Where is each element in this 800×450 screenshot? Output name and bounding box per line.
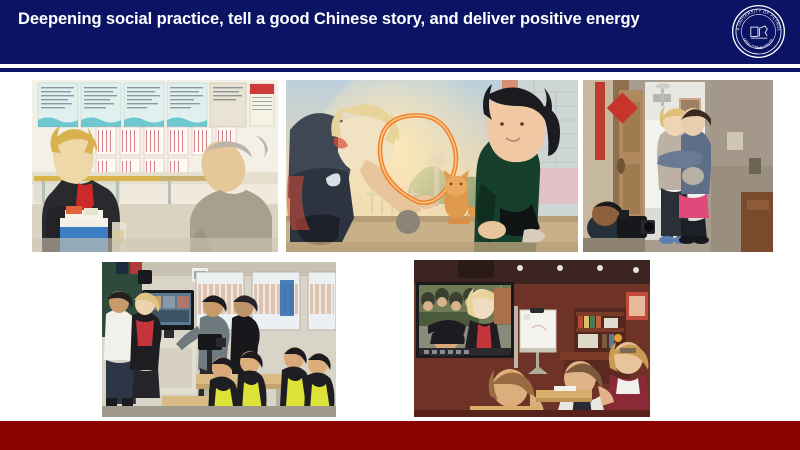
photo-kitten-play-sunset	[286, 80, 578, 252]
photo-video-conference-class	[414, 260, 650, 417]
photo-gallery	[0, 72, 800, 421]
photo-doorway-hug-filming	[583, 80, 773, 252]
photo-classroom-broadcast	[102, 262, 336, 417]
page-title: Deepening social practice, tell a good C…	[18, 9, 708, 30]
university-seal-logo: CHINA UNIVERSITY OF PETROLEUM \u4e2d\u56…	[731, 4, 786, 59]
photo-village-interview	[32, 80, 278, 252]
slide-header: Deepening social practice, tell a good C…	[0, 0, 800, 64]
svg-text:1953: 1953	[755, 46, 762, 50]
svg-text:CHINA UNIVERSITY OF PETROLEUM: CHINA UNIVERSITY OF PETROLEUM	[731, 4, 782, 32]
slide-footer	[0, 421, 800, 450]
